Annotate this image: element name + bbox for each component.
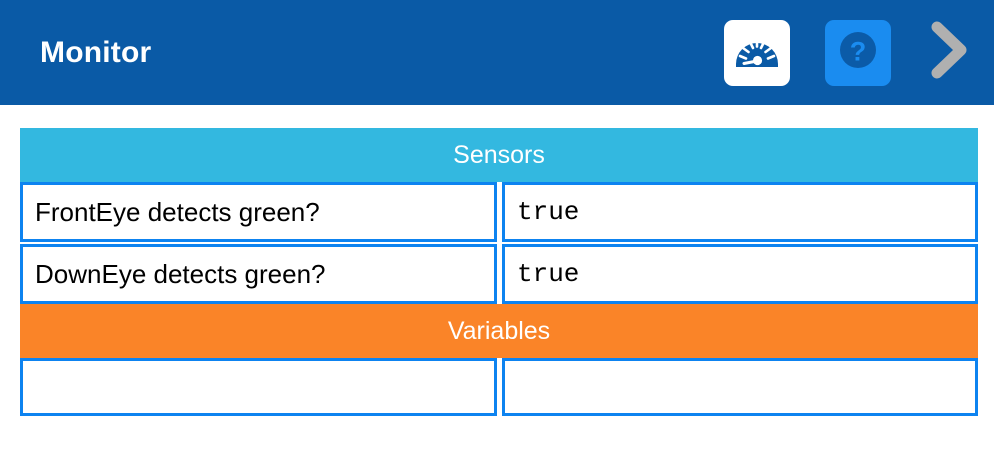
gauge-button[interactable] [724, 20, 790, 86]
help-button[interactable]: ? [825, 20, 891, 86]
sensor-name-cell: DownEye detects green? [20, 244, 497, 304]
sensor-value-cell: true [502, 244, 978, 304]
question-mark-icon: ? [836, 28, 880, 77]
variable-name-cell [20, 358, 497, 416]
page-title: Monitor [40, 38, 151, 68]
svg-text:?: ? [850, 37, 867, 67]
table-row: FrontEye detects green? true [20, 182, 978, 242]
section-header-sensors: Sensors [20, 128, 978, 182]
sensor-value-cell: true [502, 182, 978, 242]
variable-value-cell [502, 358, 978, 416]
table-row [20, 358, 978, 416]
table-row: DownEye detects green? true [20, 244, 978, 304]
next-button[interactable] [926, 20, 972, 86]
sensor-name-cell: FrontEye detects green? [20, 182, 497, 242]
section-header-variables: Variables [20, 304, 978, 358]
app-bar: Monitor [0, 0, 994, 105]
monitor-panel: Sensors FrontEye detects green? true Dow… [20, 128, 978, 416]
app-bar-actions: ? [724, 0, 986, 105]
gauge-icon [734, 30, 780, 75]
chevron-right-icon [927, 17, 971, 88]
